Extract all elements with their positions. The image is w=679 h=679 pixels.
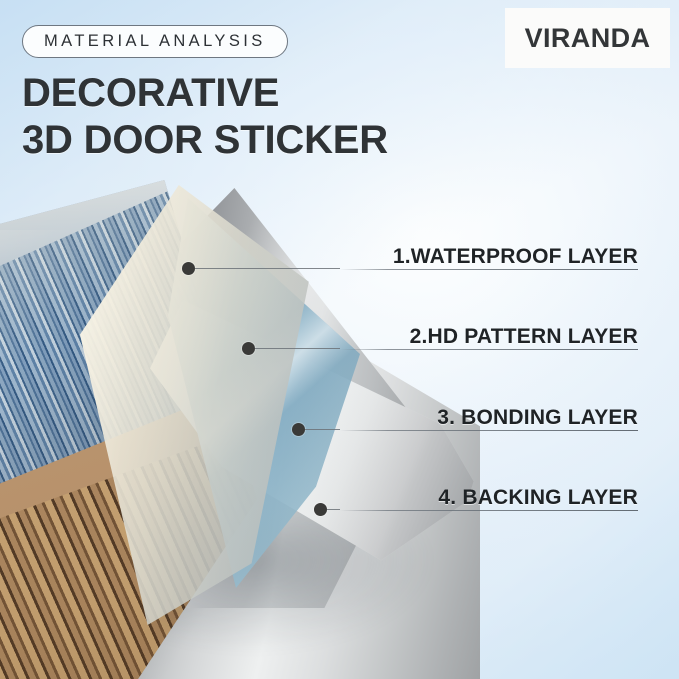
callout-dot-backing xyxy=(314,503,327,516)
callout-dot-bonding xyxy=(292,423,305,436)
brand-logo-text: VIRANDA xyxy=(525,23,651,54)
callout-dot-hd-pattern xyxy=(242,342,255,355)
brand-logo: VIRANDA xyxy=(505,8,670,68)
callout-leader-hd-pattern xyxy=(255,348,340,349)
callout-leader-backing xyxy=(327,509,340,510)
callout-leader-bonding xyxy=(305,429,340,430)
callout-label-backing: 4. BACKING LAYER xyxy=(438,486,638,510)
callout-leader-waterproof xyxy=(195,268,340,269)
headline-line-1: DECORATIVE xyxy=(22,70,452,117)
callout-label-waterproof: 1.WATERPROOF LAYER xyxy=(393,245,638,269)
callout-label-bonding: 3. BONDING LAYER xyxy=(437,406,638,430)
callout-rule-bonding xyxy=(340,430,638,431)
page-title: DECORATIVE 3D DOOR STICKER xyxy=(22,70,452,164)
material-analysis-badge: MATERIAL ANALYSIS xyxy=(22,25,288,58)
product-infographic-poster: MATERIAL ANALYSIS DECORATIVE 3D DOOR STI… xyxy=(0,0,679,679)
callout-rule-hd-pattern xyxy=(340,349,638,350)
callout-dot-waterproof xyxy=(182,262,195,275)
headline-line-2: 3D DOOR STICKER xyxy=(22,117,452,164)
badge-label: MATERIAL ANALYSIS xyxy=(44,32,266,51)
callout-label-hd-pattern: 2.HD PATTERN LAYER xyxy=(410,325,638,349)
callout-rule-backing xyxy=(340,510,638,511)
callout-rule-waterproof xyxy=(340,269,638,270)
